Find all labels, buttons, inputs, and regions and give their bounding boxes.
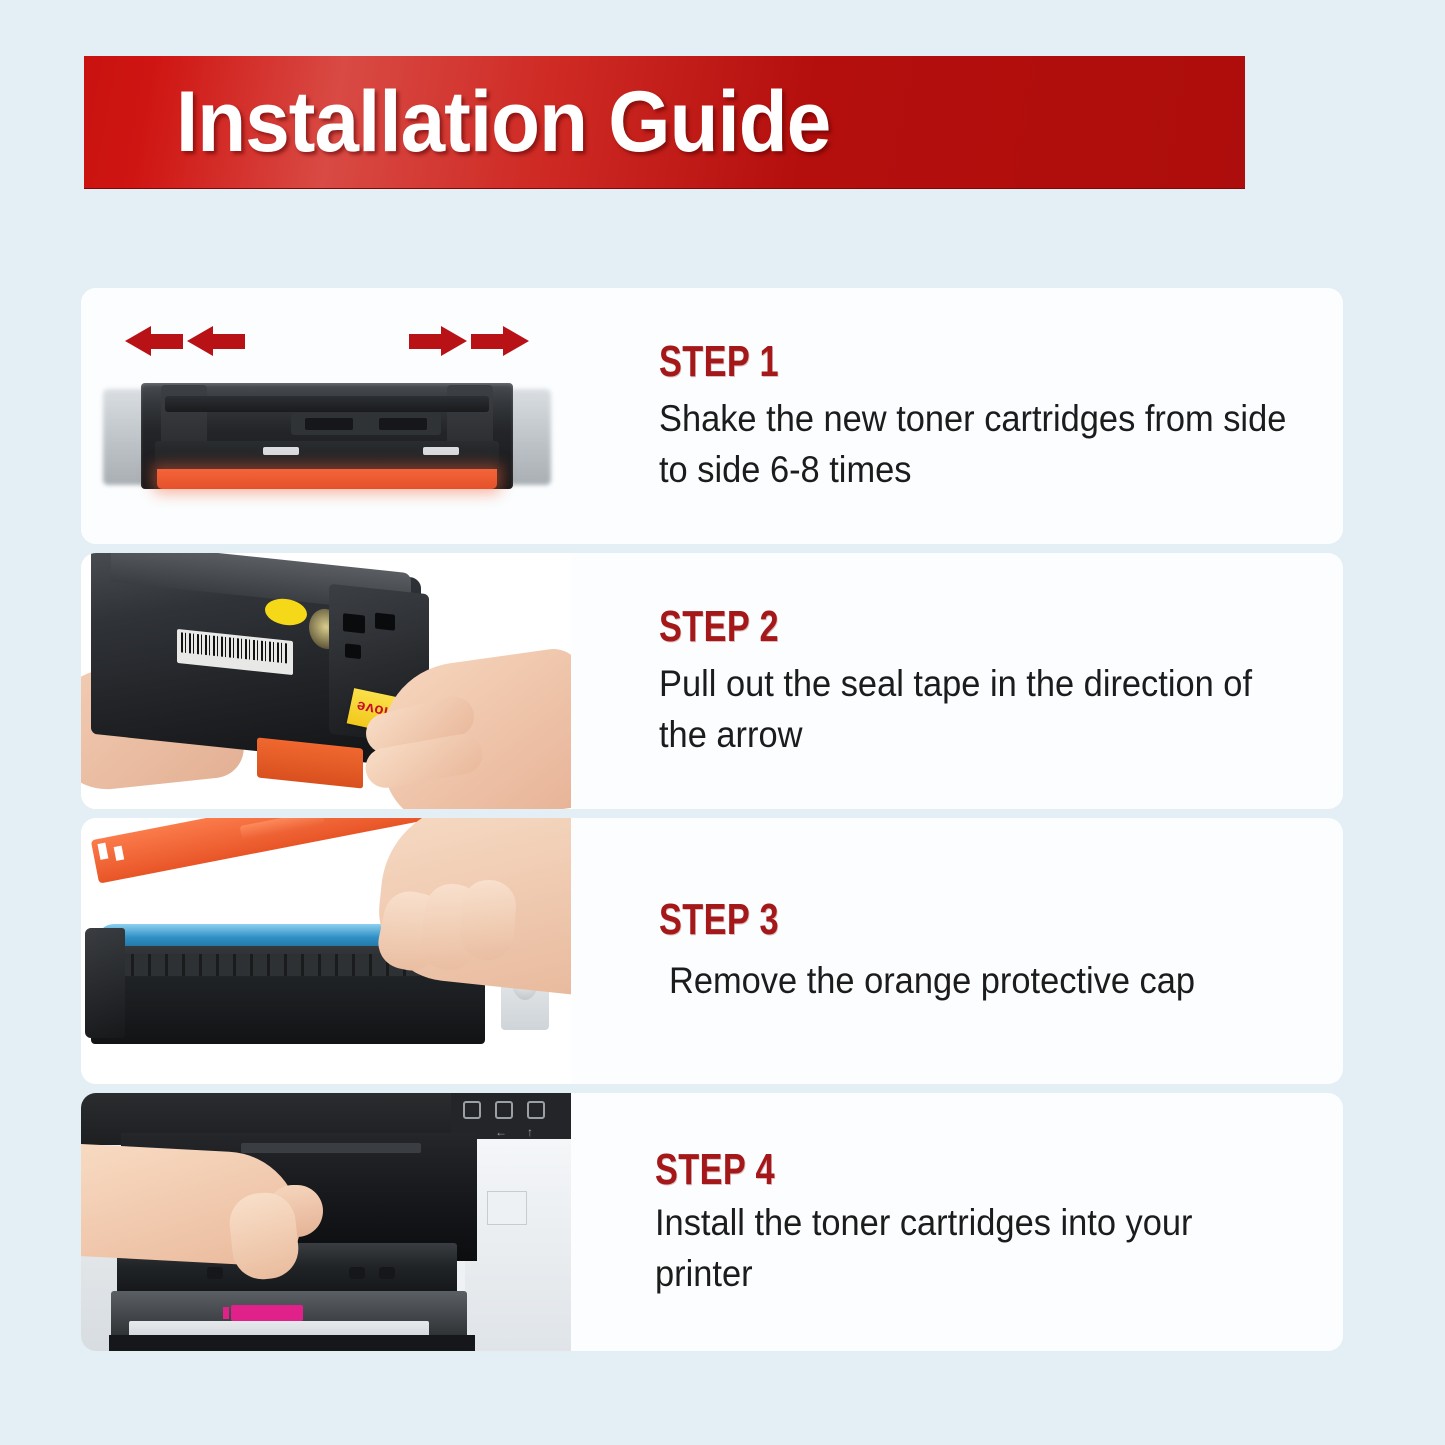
page-title: Installation Guide: [176, 73, 830, 172]
cartridge-end-left: [85, 928, 125, 1038]
step-4-body: Install the toner cartridges into your p…: [655, 1197, 1295, 1299]
step-4-illustration: ← ↑: [81, 1093, 571, 1351]
printer-panel-square: [487, 1191, 527, 1225]
step-card-3: STEP 3 Remove the orange protective cap: [81, 818, 1343, 1084]
shake-arrows-group: [81, 314, 571, 368]
arrow-right-icon: [409, 326, 467, 356]
step-1-label: STEP 1: [659, 337, 1193, 387]
back-arrow-icon: ←: [495, 1125, 507, 1139]
step-2-label: STEP 2: [659, 602, 1193, 652]
home-icon: [527, 1101, 545, 1119]
step-2-text: STEP 2 Pull out the seal tape in the dir…: [571, 553, 1343, 809]
cavity-slot: [241, 1143, 421, 1153]
step-3-body: Remove the orange protective cap: [669, 955, 1296, 1006]
step-3-label: STEP 3: [659, 895, 1193, 945]
up-arrow-icon: ↑: [527, 1125, 533, 1139]
printer-install-scene: ← ↑: [81, 1093, 571, 1351]
step-1-text: STEP 1 Shake the new toner cartridges fr…: [571, 288, 1343, 544]
step-card-4: ← ↑ STEP 4 Install the toner cartridges …: [81, 1093, 1343, 1351]
toner-cartridge-graphic: [107, 383, 547, 501]
printer-bottom-bar: [109, 1335, 475, 1351]
cartridge-lower-band: [155, 441, 499, 471]
seal-tape-scene: Remove: [81, 553, 571, 809]
protective-cap-scene: [81, 818, 571, 1084]
step-1-illustration: [81, 288, 571, 544]
step-4-label: STEP 4: [655, 1145, 1192, 1195]
arrow-left-icon: [187, 326, 245, 356]
finger: [458, 878, 517, 962]
step-3-illustration: [81, 818, 571, 1084]
cartridge-tab: [423, 447, 459, 455]
step-1-body: Shake the new toner cartridges from side…: [659, 393, 1295, 495]
step-card-2: Remove STEP 2 Pull out the seal tape in …: [81, 553, 1343, 809]
step-card-1: STEP 1 Shake the new toner cartridges fr…: [81, 288, 1343, 544]
cartridge-top-ridge: [165, 396, 489, 412]
arrow-right-icon: [471, 326, 529, 356]
cartridge-tab: [263, 447, 299, 455]
page-header-banner: Installation Guide: [84, 56, 1245, 188]
step-2-illustration: Remove: [81, 553, 571, 809]
cartridge-center-block: [291, 413, 441, 435]
panel-button-icon: [463, 1101, 481, 1119]
cartridge-orange-base: [157, 469, 497, 489]
step-2-body: Pull out the seal tape in the direction …: [659, 658, 1295, 760]
printer-body-right: [465, 1139, 571, 1351]
cartridge-body: [141, 383, 513, 489]
arrow-left-icon: [125, 326, 183, 356]
step-4-text: STEP 4 Install the toner cartridges into…: [571, 1093, 1343, 1351]
step-3-text: STEP 3 Remove the orange protective cap: [571, 818, 1343, 1084]
panel-button-icon: [495, 1101, 513, 1119]
magenta-cartridge-marker: [231, 1305, 303, 1321]
